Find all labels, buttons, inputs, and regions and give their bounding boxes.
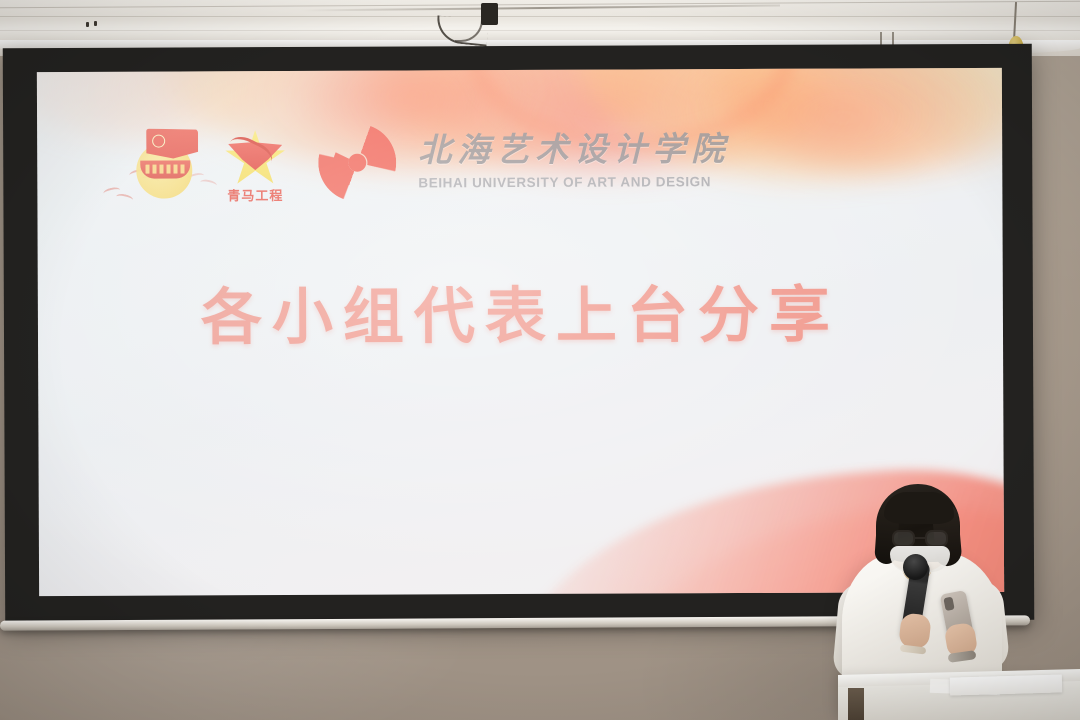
screenshot-root: 青马工程 北海艺术设计学院 BEIHAI UNIVERSITY OF ART A… [0,0,1080,720]
communist-youth-league-emblem-icon [132,126,202,200]
glasses-icon [892,530,948,547]
bird-icon [103,188,120,204]
university-swirl-logo-icon [318,124,396,202]
slide-header-logos: 青马工程 北海艺术设计学院 BEIHAI UNIVERSITY OF ART A… [132,119,730,206]
university-name-block: 北海艺术设计学院 BEIHAI UNIVERSITY OF ART AND DE… [418,134,730,190]
slide-title: 各小组代表上台分享 [38,264,1003,357]
ceiling-fixing-dot [94,21,97,26]
qingma-project-label: 青马工程 [218,189,292,202]
university-name-en: BEIHAI UNIVERSITY OF ART AND DESIGN [418,174,730,190]
presenter-hair-fringe [884,492,954,524]
ceiling-seam-line [0,16,1080,17]
ceiling-projector-mount [481,3,498,25]
podium-leg [848,688,864,720]
qingma-project-emblem-icon: 青马工程 [218,126,292,200]
ceiling-fixing-dot [86,22,89,27]
podium-paper [950,674,1062,695]
ceiling-seam-line [0,30,1080,31]
university-name-cn: 北海艺术设计学院 [418,134,730,168]
